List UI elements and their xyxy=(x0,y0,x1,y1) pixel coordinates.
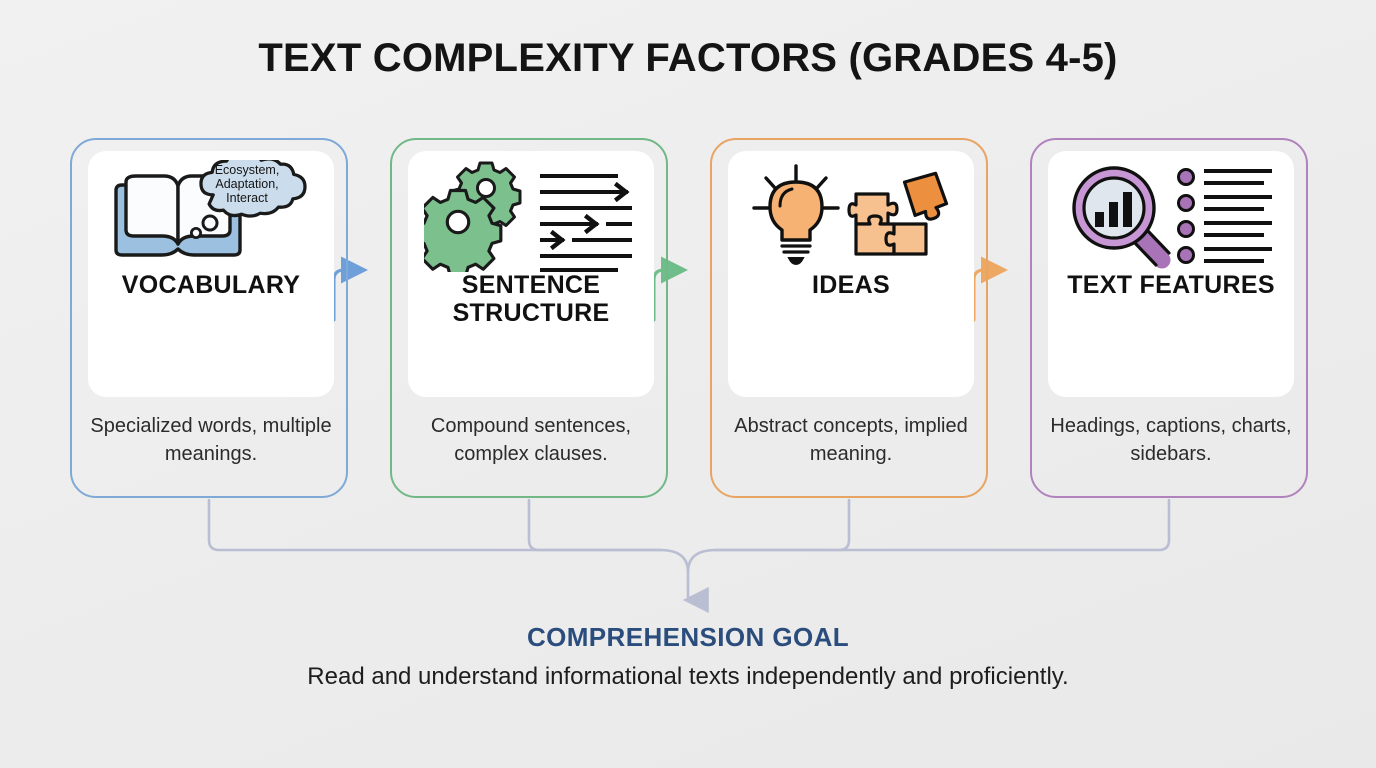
card-text-features-panel: TEXT FEATURES xyxy=(1048,151,1294,397)
open-book-with-thought-bubble-icon: Ecosystem, Adaptation, Interact xyxy=(88,151,334,271)
goal-arrow-stem xyxy=(660,550,688,600)
card-sentence-structure-panel: SENTENCE STRUCTURE xyxy=(408,151,654,397)
card-ideas[interactable]: IDEAS Abstract concepts, implied meaning… xyxy=(710,138,988,498)
card-sentence-structure[interactable]: SENTENCE STRUCTURE Compound sentences, c… xyxy=(390,138,668,498)
card-text-features[interactable]: TEXT FEATURES Headings, captions, charts… xyxy=(1030,138,1308,498)
card-ideas-panel: IDEAS xyxy=(728,151,974,397)
card-vocabulary-title: VOCABULARY xyxy=(88,271,334,299)
card-vocabulary[interactable]: Ecosystem, Adaptation, Interact VOCABULA… xyxy=(70,138,348,498)
magnifier-chart-and-list-icon xyxy=(1048,151,1294,271)
infographic-canvas: TEXT COMPLEXITY FACTORS (GRADES 4-5) xyxy=(0,0,1376,768)
lightbulb-and-puzzle-icon xyxy=(728,151,974,271)
bubble-line-3: Interact xyxy=(226,191,268,205)
card-ideas-title: IDEAS xyxy=(728,271,974,299)
gears-and-arrow-lines-icon xyxy=(408,151,654,271)
card-vocabulary-description: Specialized words, multiple meanings. xyxy=(78,412,344,469)
card-text-features-title: TEXT FEATURES xyxy=(1048,271,1294,299)
drop-line-2 xyxy=(529,500,660,550)
card-sentence-structure-description: Compound sentences, complex clauses. xyxy=(398,412,664,469)
drop-line-4 xyxy=(716,500,1169,550)
card-ideas-description: Abstract concepts, implied meaning. xyxy=(718,412,984,469)
card-text-features-description: Headings, captions, charts, sidebars. xyxy=(1038,412,1304,469)
card-vocabulary-panel: Ecosystem, Adaptation, Interact VOCABULA… xyxy=(88,151,334,397)
comprehension-goal-title: COMPREHENSION GOAL xyxy=(0,622,1376,653)
drop-line-1 xyxy=(209,500,660,550)
bubble-line-2: Adaptation, xyxy=(215,177,278,191)
drop-line-3 xyxy=(716,500,849,550)
comprehension-goal-text: Read and understand informational texts … xyxy=(288,660,1088,695)
card-sentence-structure-title: SENTENCE STRUCTURE xyxy=(408,271,654,327)
bubble-line-1: Ecosystem, xyxy=(214,163,279,177)
